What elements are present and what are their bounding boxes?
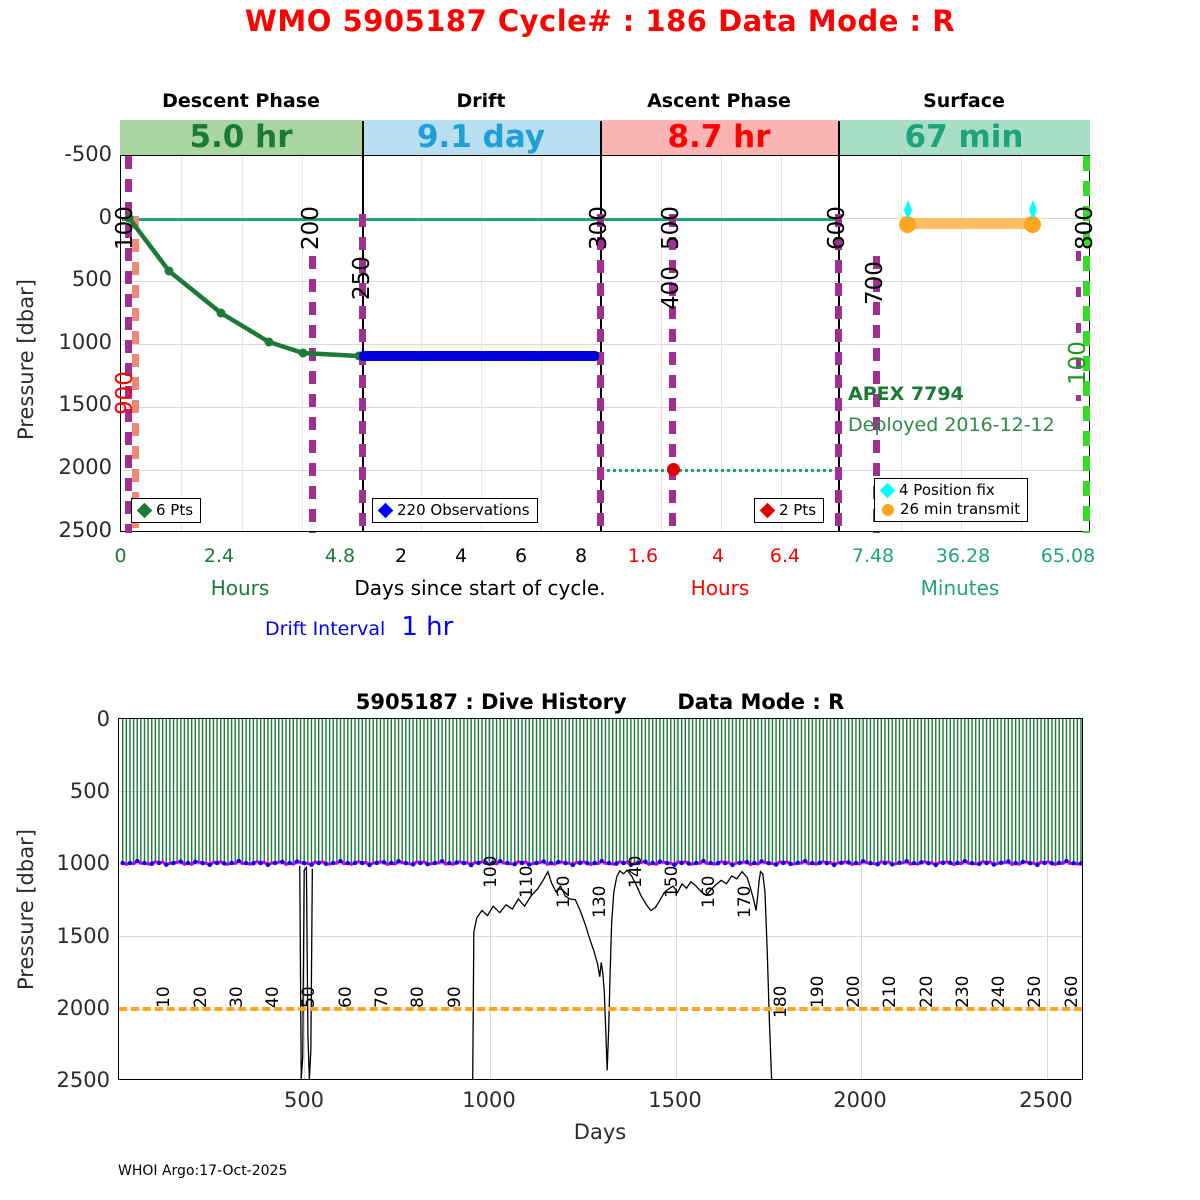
cycle-label-120: 120 [554,908,586,928]
cycle-label-180: 180 [771,1018,803,1038]
xtick-drift-6: 6 [501,545,541,567]
meas-label-800: 800 [1072,250,1116,276]
dive-history-title-text: 5905187 : Dive History [356,690,627,714]
position-fix-marker-2 [1024,200,1042,220]
hist-ytick-2500: 2500 [20,1068,110,1092]
legend-descent-label: 6 Pts [156,501,193,520]
hist-xtick-500: 500 [268,1088,340,1112]
hist-xlabel-text: Days [0,1120,1200,1144]
meas-label-100: 100 [112,250,156,276]
phase-value-descent: 5.0 hr [120,120,362,156]
xtick-ascent-4: 4 [698,545,738,567]
top-ytick-1500: 1500 [20,392,112,416]
top-ytick-2500: 2500 [20,518,112,542]
xtick-drift-2: 2 [381,545,421,567]
xtick-descent-2p4: 2.4 [195,545,243,567]
cycle-label-100: 100 [481,888,513,908]
hist-xtick-1000: 1000 [453,1088,525,1112]
xtick-descent-4p8: 4.8 [316,545,364,567]
drift-observations-band [359,351,599,361]
float-deployed: Deployed 2016-12-12 [848,414,1055,436]
phase-value-surface: 67 min [838,120,1090,156]
xtick-surface-36p28: 36.28 [928,545,998,567]
cycle-label-60: 60 [336,1008,358,1028]
legend-transmit-label: 26 min transmit [900,500,1020,519]
position-fix-icon [880,483,896,499]
drift-interval-readout: Drift Interval 1 hr [265,612,453,642]
hist-ytick-0: 0 [20,707,110,731]
profile-depth-line [600,469,838,472]
meas-label-400: 400 [658,310,702,336]
hist-ytick-1000: 1000 [20,851,110,875]
cycle-label-220: 220 [917,1008,949,1028]
drift-marker-icon [378,503,394,519]
phase-name-drift: Drift [362,90,600,112]
cycle-label-40: 40 [263,1008,285,1028]
xgroup-surface: Minutes [880,576,1040,600]
phase-name-ascent: Ascent Phase [600,90,838,112]
footer-text: WHOI Argo:17-Oct-2025 [118,1163,287,1179]
cycle-label-90: 90 [445,1008,467,1028]
meas-label-250: 250 [349,300,393,326]
cycle-label-20: 20 [191,1008,213,1028]
xtick-surface-7p48: 7.48 [843,545,903,567]
xtick-ascent-1p6: 1.6 [619,545,667,567]
ascent-point-deep [667,463,680,476]
legend-surface: 4 Position fix 26 min transmit [874,478,1028,522]
xtick-descent-0: 0 [98,545,143,567]
xgroup-descent: Hours [155,576,325,600]
xgroup-ascent: Hours [645,576,795,600]
cycle-label-210: 210 [880,1008,912,1028]
phase-value-ascent: 8.7 hr [600,120,838,156]
xtick-ascent-6p4: 6.4 [761,545,809,567]
cycle-label-130: 130 [590,918,622,938]
surface-transmit-bar [906,218,1034,229]
meas-label-900-red: 900 [112,415,156,441]
drift-interval-label: Drift Interval [265,618,385,640]
xtick-surface-65p08: 65.08 [1033,545,1103,567]
cycle-label-240: 240 [989,1008,1021,1028]
cycle-label-140: 140 [626,888,658,908]
hist-xtick-2000: 2000 [824,1088,896,1112]
phase-name-descent: Descent Phase [120,90,362,112]
dive-history-title: 5905187 : Dive History Data Mode : R [0,690,1200,714]
cycle-label-260: 260 [1062,1008,1094,1028]
top-ytick-2000: 2000 [20,455,112,479]
phase-name-surface: Surface [838,90,1090,112]
meas-label-200: 200 [298,250,342,276]
cycle-label-190: 190 [808,1008,840,1028]
legend-descent: 6 Pts [131,498,201,523]
descent-marker-icon [137,503,153,519]
hist-ytick-2000: 2000 [20,996,110,1020]
legend-position-fix-label: 4 Position fix [899,481,995,500]
legend-ascent-label: 2 Pts [779,501,816,520]
float-name: APEX 7794 [848,383,964,405]
xtick-drift-4: 4 [441,545,481,567]
xgroup-drift: Days since start of cycle. [330,576,630,600]
top-ytick-500: 500 [20,267,112,291]
cycle-label-200: 200 [844,1008,876,1028]
phase-value-drift: 9.1 day [362,120,600,156]
page-title: WMO 5905187 Cycle# : 186 Data Mode : R [0,4,1200,38]
meas-label-700: 700 [862,305,906,331]
cycle-label-230: 230 [953,1008,985,1028]
cycle-label-70: 70 [372,1008,394,1028]
drift-interval-value: 1 hr [401,612,453,642]
hist-xtick-2500: 2500 [1010,1088,1082,1112]
hist-ytick-500: 500 [20,779,110,803]
dive-history-datamode: Data Mode : R [677,690,844,714]
cycle-label-110: 110 [517,898,549,918]
hist-xtick-1500: 1500 [639,1088,711,1112]
cycle-label-160: 160 [699,908,731,928]
xtick-drift-8: 8 [561,545,601,567]
cycle-label-30: 30 [227,1008,249,1028]
hist-ytick-1500: 1500 [20,924,110,948]
position-fix-marker-1 [899,200,917,220]
cycle-label-250: 250 [1025,1008,1057,1028]
cycle-label-80: 80 [408,1008,430,1028]
cycle-label-10: 10 [154,1008,176,1028]
meas-label-300: 300 [586,250,630,276]
transmit-icon [882,504,894,516]
ascent-marker-icon [760,503,776,519]
cycle-label-150: 150 [662,898,694,918]
top-ytick-1000: 1000 [20,330,112,354]
legend-drift-label: 220 Observations [397,501,530,520]
cycle-label-50: 50 [299,1008,321,1028]
meas-label-100-green: 100 [1065,385,1109,411]
legend-drift: 220 Observations [372,498,538,523]
legend-ascent: 2 Pts [754,498,824,523]
cycle-label-170: 170 [735,918,767,938]
top-ytick-0: 0 [20,205,112,229]
descent-profile-curve [121,156,371,533]
top-ytick-m500: -500 [20,142,112,166]
